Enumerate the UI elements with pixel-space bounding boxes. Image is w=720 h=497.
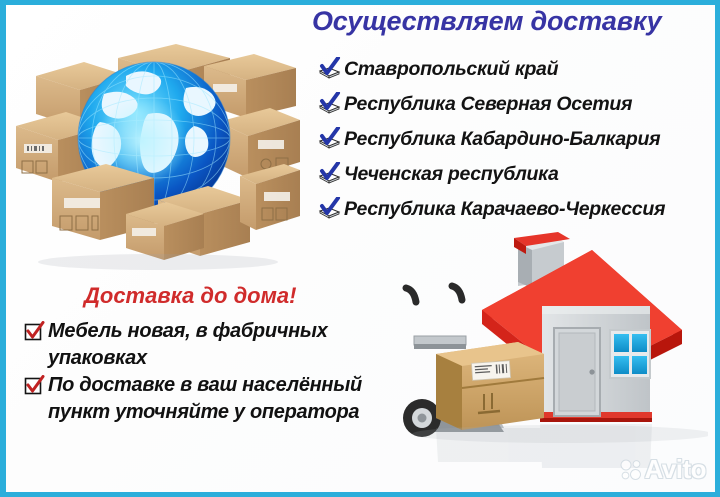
list-item: Республика Кабардино-Балкария — [316, 122, 716, 157]
region-name: Республика Карачаево-Черкессия — [344, 198, 665, 221]
poster-border-bottom — [0, 492, 720, 497]
delivery-regions-list: Ставропольский край Республика Северная … — [316, 52, 716, 227]
feature-text: Мебель новая, в фабричных упаковках — [48, 318, 384, 372]
globe-and-boxes-illustration — [8, 18, 300, 270]
blue-check-tray-icon — [316, 197, 342, 223]
list-item: Республика Карачаево-Черкессия — [316, 192, 716, 227]
avito-dots-icon — [620, 459, 642, 481]
list-item: По доставке в ваш населённый пункт уточн… — [24, 372, 384, 426]
avito-watermark: Avito — [620, 454, 706, 485]
delivery-promo-poster: Осуществляем доставку Ставропольский кра… — [0, 0, 720, 497]
red-check-box-icon — [24, 375, 45, 396]
red-check-box-icon — [24, 321, 45, 342]
blue-check-tray-icon — [316, 127, 342, 153]
blue-check-tray-icon — [316, 92, 342, 118]
region-name: Республика Кабардино-Балкария — [344, 128, 660, 151]
feature-text: По доставке в ваш населённый пункт уточн… — [48, 372, 384, 426]
region-name: Чеченская республика — [344, 163, 559, 186]
poster-border-top — [0, 0, 720, 5]
region-name: Ставропольский край — [344, 58, 558, 81]
region-name: Республика Северная Осетия — [344, 93, 632, 116]
poster-border-left — [0, 0, 6, 497]
blue-check-tray-icon — [316, 57, 342, 83]
poster-border-right — [715, 0, 720, 497]
page-title: Осуществляем доставку — [312, 6, 712, 37]
blue-check-tray-icon — [316, 162, 342, 188]
list-item: Республика Северная Осетия — [316, 87, 716, 122]
list-item: Ставропольский край — [316, 52, 716, 87]
list-item: Мебель новая, в фабричных упаковках — [24, 318, 384, 372]
avito-wordmark: Avito — [644, 454, 706, 485]
delivery-features-list: Мебель новая, в фабричных упаковках По д… — [24, 318, 384, 426]
section-subtitle: Доставка до дома! — [84, 283, 296, 309]
list-item: Чеченская республика — [316, 157, 716, 192]
house-and-handtruck-illustration — [392, 232, 708, 490]
